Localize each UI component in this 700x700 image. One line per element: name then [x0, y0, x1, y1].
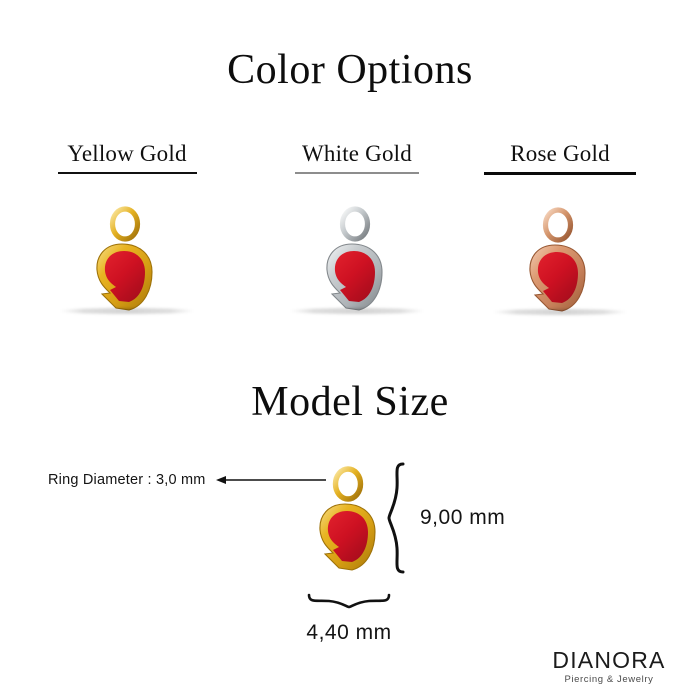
color-option-underline-yellow-gold	[58, 172, 197, 174]
color-option-yellow-gold[interactable]: Yellow Gold	[27, 140, 227, 318]
vertical-brace-icon	[386, 462, 412, 574]
ring-diameter-annotation: Ring Diameter : 3,0 mm	[48, 472, 326, 488]
color-option-label-rose-gold: Rose Gold	[460, 140, 660, 168]
width-annotation: 4,40 mm	[284, 592, 414, 645]
charm-image-model	[300, 462, 400, 586]
height-value-label: 9,00 mm	[420, 506, 505, 530]
page-title-model-size: Model Size	[0, 376, 700, 428]
height-annotation: 9,00 mm	[386, 462, 505, 574]
charm-image-white-gold	[302, 198, 412, 318]
half-heart-charm-icon	[302, 198, 412, 318]
charm-shadow	[289, 308, 425, 314]
model-size-diagram: Ring Diameter : 3,0 mm	[0, 440, 700, 650]
half-heart-charm-icon	[72, 198, 182, 318]
brand-logo: DIANORA Piercing & Jewelry	[534, 647, 684, 686]
width-value-label: 4,40 mm	[284, 621, 414, 645]
color-option-underline-rose-gold	[484, 172, 636, 175]
color-option-label-yellow-gold: Yellow Gold	[27, 140, 227, 168]
color-option-label-white-gold: White Gold	[257, 140, 457, 168]
ring-diameter-label: Ring Diameter : 3,0 mm	[48, 472, 206, 488]
page-title-color-options: Color Options	[0, 44, 700, 96]
charm-shadow	[59, 308, 195, 314]
brand-tagline: Piercing & Jewelry	[534, 673, 684, 686]
horizontal-brace-icon	[307, 592, 391, 610]
color-option-underline-white-gold	[295, 172, 419, 174]
charm-shadow	[492, 309, 628, 315]
color-option-white-gold[interactable]: White Gold	[257, 140, 457, 318]
color-options-row: Yellow Gold	[0, 140, 700, 340]
brand-name: DIANORA	[534, 647, 684, 673]
charm-image-yellow-gold	[72, 198, 182, 318]
half-heart-charm-icon	[300, 462, 400, 586]
charm-image-rose-gold	[505, 199, 615, 319]
half-heart-charm-icon	[505, 199, 615, 319]
color-option-rose-gold[interactable]: Rose Gold	[460, 140, 660, 319]
